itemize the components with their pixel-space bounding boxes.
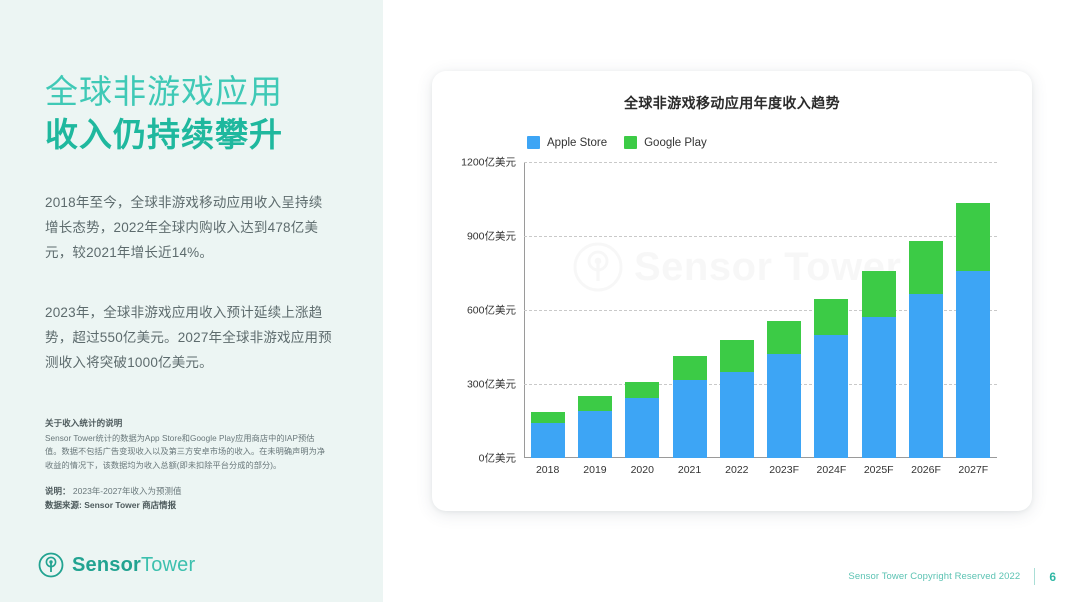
notes-forecast-row: 说明： 2023年-2027年收入为预测值 xyxy=(45,484,327,498)
x-axis-label-2019: 2019 xyxy=(578,464,612,476)
bar-segment-apple-store-2019[interactable] xyxy=(578,411,612,458)
body-paragraph-1: 2018年至今，全球非游戏移动应用收入呈持续增长态势，2022年全球内购收入达到… xyxy=(45,190,333,265)
sensor-tower-antenna-icon xyxy=(38,552,64,578)
x-axis-label-2026F: 2026F xyxy=(909,464,943,476)
bar-column-2025F[interactable] xyxy=(862,162,896,458)
bar-column-2022[interactable] xyxy=(720,162,754,458)
x-axis-label-2023F: 2023F xyxy=(767,464,801,476)
bar-column-2021[interactable] xyxy=(673,162,707,458)
bar-segment-apple-store-2020[interactable] xyxy=(625,398,659,458)
body-paragraph-2: 2023年，全球非游戏应用收入预计延续上涨趋势，超过550亿美元。2027年全球… xyxy=(45,300,333,375)
bar-column-2020[interactable] xyxy=(625,162,659,458)
bar-segment-google-play-2024F[interactable] xyxy=(814,299,848,335)
bar-segment-google-play-2021[interactable] xyxy=(673,356,707,381)
x-axis-label-2020: 2020 xyxy=(625,464,659,476)
legend-item-google-play[interactable]: Google Play xyxy=(624,136,707,149)
footer-copyright: Sensor Tower Copyright Reserved 2022 xyxy=(848,571,1020,582)
slide: 全球非游戏应用 收入仍持续攀升 2018年至今，全球非游戏移动应用收入呈持续增长… xyxy=(0,0,1080,602)
y-axis-tick-1200: 1200亿美元 xyxy=(461,155,516,170)
legend-label-google-play: Google Play xyxy=(644,137,707,149)
y-axis-tick-900: 900亿美元 xyxy=(467,229,516,244)
logo-word-sensor: Sensor xyxy=(72,554,141,576)
x-axis-label-2025F: 2025F xyxy=(862,464,896,476)
bar-column-2019[interactable] xyxy=(578,162,612,458)
notes-spacer xyxy=(45,472,327,484)
bar-segment-google-play-2018[interactable] xyxy=(531,412,565,424)
x-axis-labels: 201820192020202120222023F2024F2025F2026F… xyxy=(524,464,997,476)
y-axis-tick-0: 0亿美元 xyxy=(479,451,516,466)
bar-column-2024F[interactable] xyxy=(814,162,848,458)
footer-page-number: 6 xyxy=(1049,570,1056,584)
bar-segment-apple-store-2018[interactable] xyxy=(531,423,565,458)
bar-column-2027F[interactable] xyxy=(956,162,990,458)
page-title: 全球非游戏应用 收入仍持续攀升 xyxy=(45,72,365,156)
footer-divider xyxy=(1034,568,1035,585)
legend-swatch-apple-store xyxy=(527,136,540,149)
bar-segment-google-play-2026F[interactable] xyxy=(909,241,943,294)
bar-segment-apple-store-2025F[interactable] xyxy=(862,317,896,458)
bar-segment-google-play-2023F[interactable] xyxy=(767,321,801,354)
bar-column-2026F[interactable] xyxy=(909,162,943,458)
notes-block: 关于收入统计的说明 Sensor Tower统计的数据为App Store和Go… xyxy=(45,416,327,512)
title-line-2: 收入仍持续攀升 xyxy=(45,114,365,156)
logo-word-tower: Tower xyxy=(141,554,195,576)
left-panel: 全球非游戏应用 收入仍持续攀升 2018年至今，全球非游戏移动应用收入呈持续增长… xyxy=(0,0,383,602)
notes-forecast-label: 说明： xyxy=(45,486,71,496)
x-axis-label-2021: 2021 xyxy=(673,464,707,476)
bar-segment-google-play-2022[interactable] xyxy=(720,340,754,372)
x-axis-label-2024F: 2024F xyxy=(814,464,848,476)
chart-title: 全球非游戏移动应用年度收入趋势 xyxy=(432,93,1032,113)
x-axis-label-2018: 2018 xyxy=(531,464,565,476)
bar-segment-google-play-2025F[interactable] xyxy=(862,271,896,317)
y-axis-tick-300: 300亿美元 xyxy=(467,377,516,392)
legend-swatch-google-play xyxy=(624,136,637,149)
y-axis-tick-600: 600亿美元 xyxy=(467,303,516,318)
notes-source-value: Sensor Tower 商店情报 xyxy=(84,500,176,510)
bar-segment-apple-store-2021[interactable] xyxy=(673,380,707,458)
bar-segment-google-play-2020[interactable] xyxy=(625,382,659,399)
chart-plot-area: 0亿美元300亿美元600亿美元900亿美元1200亿美元 xyxy=(524,162,997,458)
bar-segment-apple-store-2023F[interactable] xyxy=(767,354,801,458)
x-axis-label-2027F: 2027F xyxy=(956,464,990,476)
sensor-tower-logo: SensorTower xyxy=(38,552,195,578)
notes-source-row: 数据来源: Sensor Tower 商店情报 xyxy=(45,498,327,512)
chart-card: 全球非游戏移动应用年度收入趋势 Apple Store Google Play xyxy=(432,71,1032,511)
notes-source-label: 数据来源: xyxy=(45,500,82,510)
bar-segment-apple-store-2024F[interactable] xyxy=(814,335,848,458)
bar-segment-apple-store-2026F[interactable] xyxy=(909,294,943,458)
bar-segment-apple-store-2022[interactable] xyxy=(720,372,754,458)
bar-segment-google-play-2027F[interactable] xyxy=(956,203,990,271)
bar-column-2023F[interactable] xyxy=(767,162,801,458)
notes-forecast-value: 2023年-2027年收入为预测值 xyxy=(73,486,182,496)
slide-footer: Sensor Tower Copyright Reserved 2022 6 xyxy=(848,568,1056,585)
legend-item-apple-store[interactable]: Apple Store xyxy=(527,136,607,149)
notes-heading: 关于收入统计的说明 xyxy=(45,416,327,430)
bar-column-2018[interactable] xyxy=(531,162,565,458)
right-panel: 全球非游戏移动应用年度收入趋势 Apple Store Google Play xyxy=(383,0,1080,602)
x-axis-label-2022: 2022 xyxy=(720,464,754,476)
chart-legend: Apple Store Google Play xyxy=(527,136,707,149)
bar-segment-apple-store-2027F[interactable] xyxy=(956,271,990,458)
title-line-1: 全球非游戏应用 xyxy=(45,72,365,112)
legend-label-apple-store: Apple Store xyxy=(547,137,607,149)
notes-body: Sensor Tower统计的数据为App Store和Google Play应… xyxy=(45,432,327,472)
bar-segment-google-play-2019[interactable] xyxy=(578,396,612,411)
sensor-tower-logo-text: SensorTower xyxy=(72,554,195,577)
bars-layer xyxy=(524,162,997,458)
